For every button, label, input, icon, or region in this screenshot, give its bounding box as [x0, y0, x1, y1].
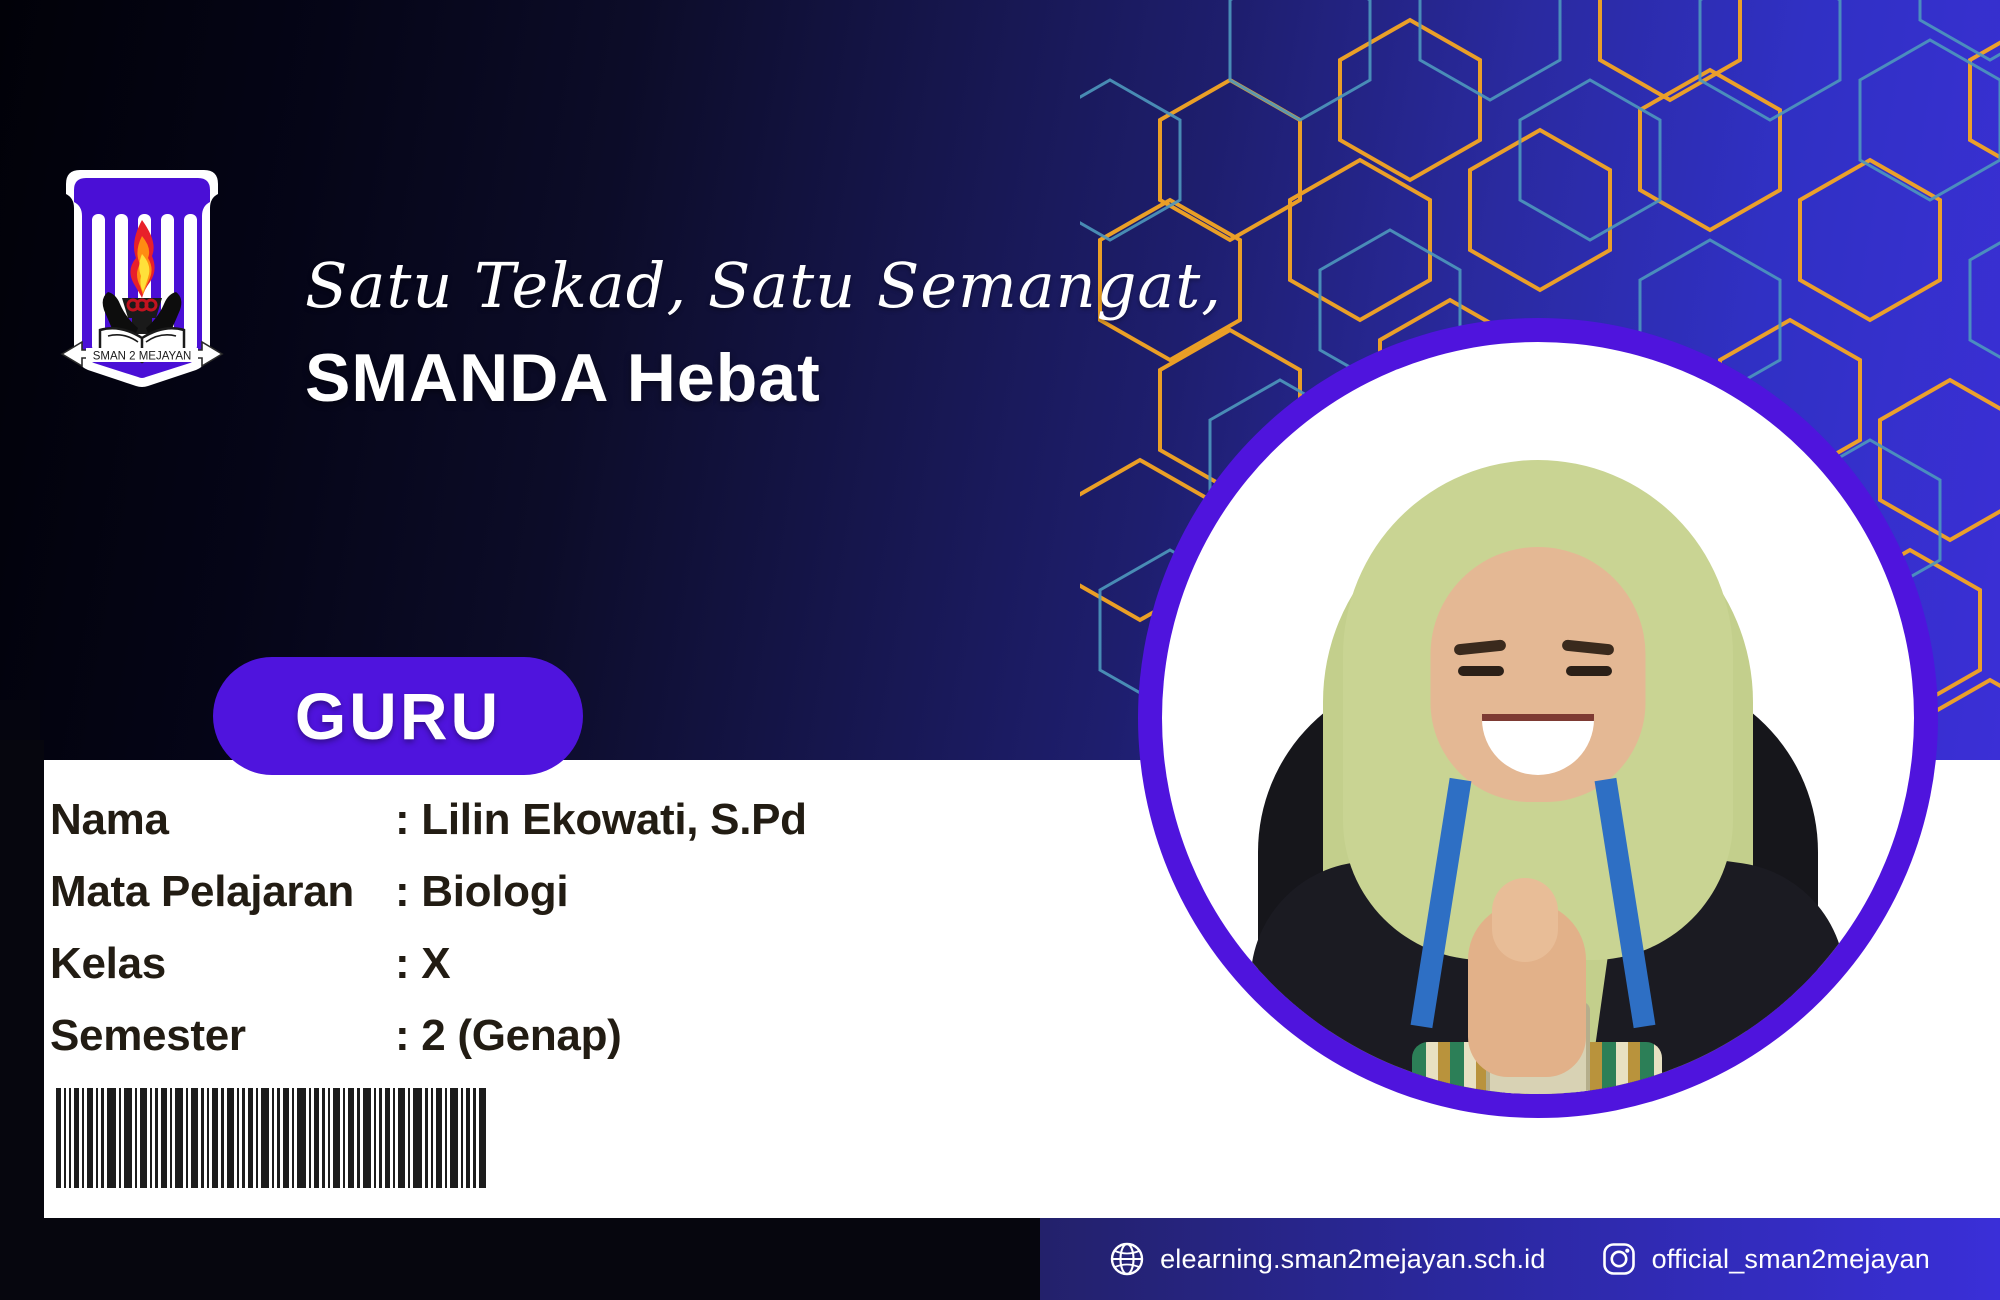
footer-bar: elearning.sman2mejayan.sch.id official_s… — [1040, 1218, 2000, 1300]
globe-icon — [1110, 1242, 1144, 1276]
photo-ring — [1138, 318, 1938, 1118]
info-value-kelas: : X — [395, 939, 450, 989]
info-table: Nama : Lilin Ekowati, S.Pd Mata Pelajara… — [50, 795, 910, 1083]
info-label-semester: Semester — [50, 1011, 395, 1061]
footer-website-label: elearning.sman2mejayan.sch.id — [1160, 1244, 1546, 1275]
tagline-block: Satu Tekad, Satu Semangat, SMANDA Hebat — [305, 255, 1065, 417]
table-row: Mata Pelajaran : Biologi — [50, 867, 910, 939]
info-value-mata-pelajaran: : Biologi — [395, 867, 568, 917]
table-row: Kelas : X — [50, 939, 910, 1011]
footer-item-website[interactable]: elearning.sman2mejayan.sch.id — [1110, 1242, 1546, 1276]
school-crest: SMAN 2 MEJAYAN — [52, 158, 232, 388]
info-value-nama: : Lilin Ekowati, S.Pd — [395, 795, 807, 845]
table-row: Semester : 2 (Genap) — [50, 1011, 910, 1083]
tagline-line-1: Satu Tekad, Satu Semangat, — [305, 255, 1065, 317]
id-barcode — [56, 1088, 756, 1188]
photo-eye-right — [1566, 666, 1612, 676]
photo-eye-left — [1458, 666, 1504, 676]
info-label-nama: Nama — [50, 795, 395, 845]
info-value-semester: : 2 (Genap) — [395, 1011, 622, 1061]
crest-banner-text: SMAN 2 MEJAYAN — [93, 351, 192, 363]
id-card: SMAN 2 MEJAYAN Satu Tekad, Satu Semangat… — [0, 0, 2000, 1300]
role-badge: GURU — [213, 657, 583, 775]
teacher-photo — [1162, 342, 1914, 1094]
photo-thumb-tip — [1492, 878, 1558, 962]
role-badge-label: GURU — [295, 678, 501, 754]
table-row: Nama : Lilin Ekowati, S.Pd — [50, 795, 910, 867]
tagline-line-2: SMANDA Hebat — [305, 339, 1065, 417]
footer-left-dark — [0, 1218, 1040, 1300]
instagram-icon — [1602, 1242, 1636, 1276]
info-label-kelas: Kelas — [50, 939, 395, 989]
info-label-mata-pelajaran: Mata Pelajaran — [50, 867, 395, 917]
footer-item-instagram[interactable]: official_sman2mejayan — [1602, 1242, 1930, 1276]
footer-instagram-label: official_sman2mejayan — [1652, 1244, 1930, 1275]
left-dark-strip-lower — [0, 740, 44, 1300]
